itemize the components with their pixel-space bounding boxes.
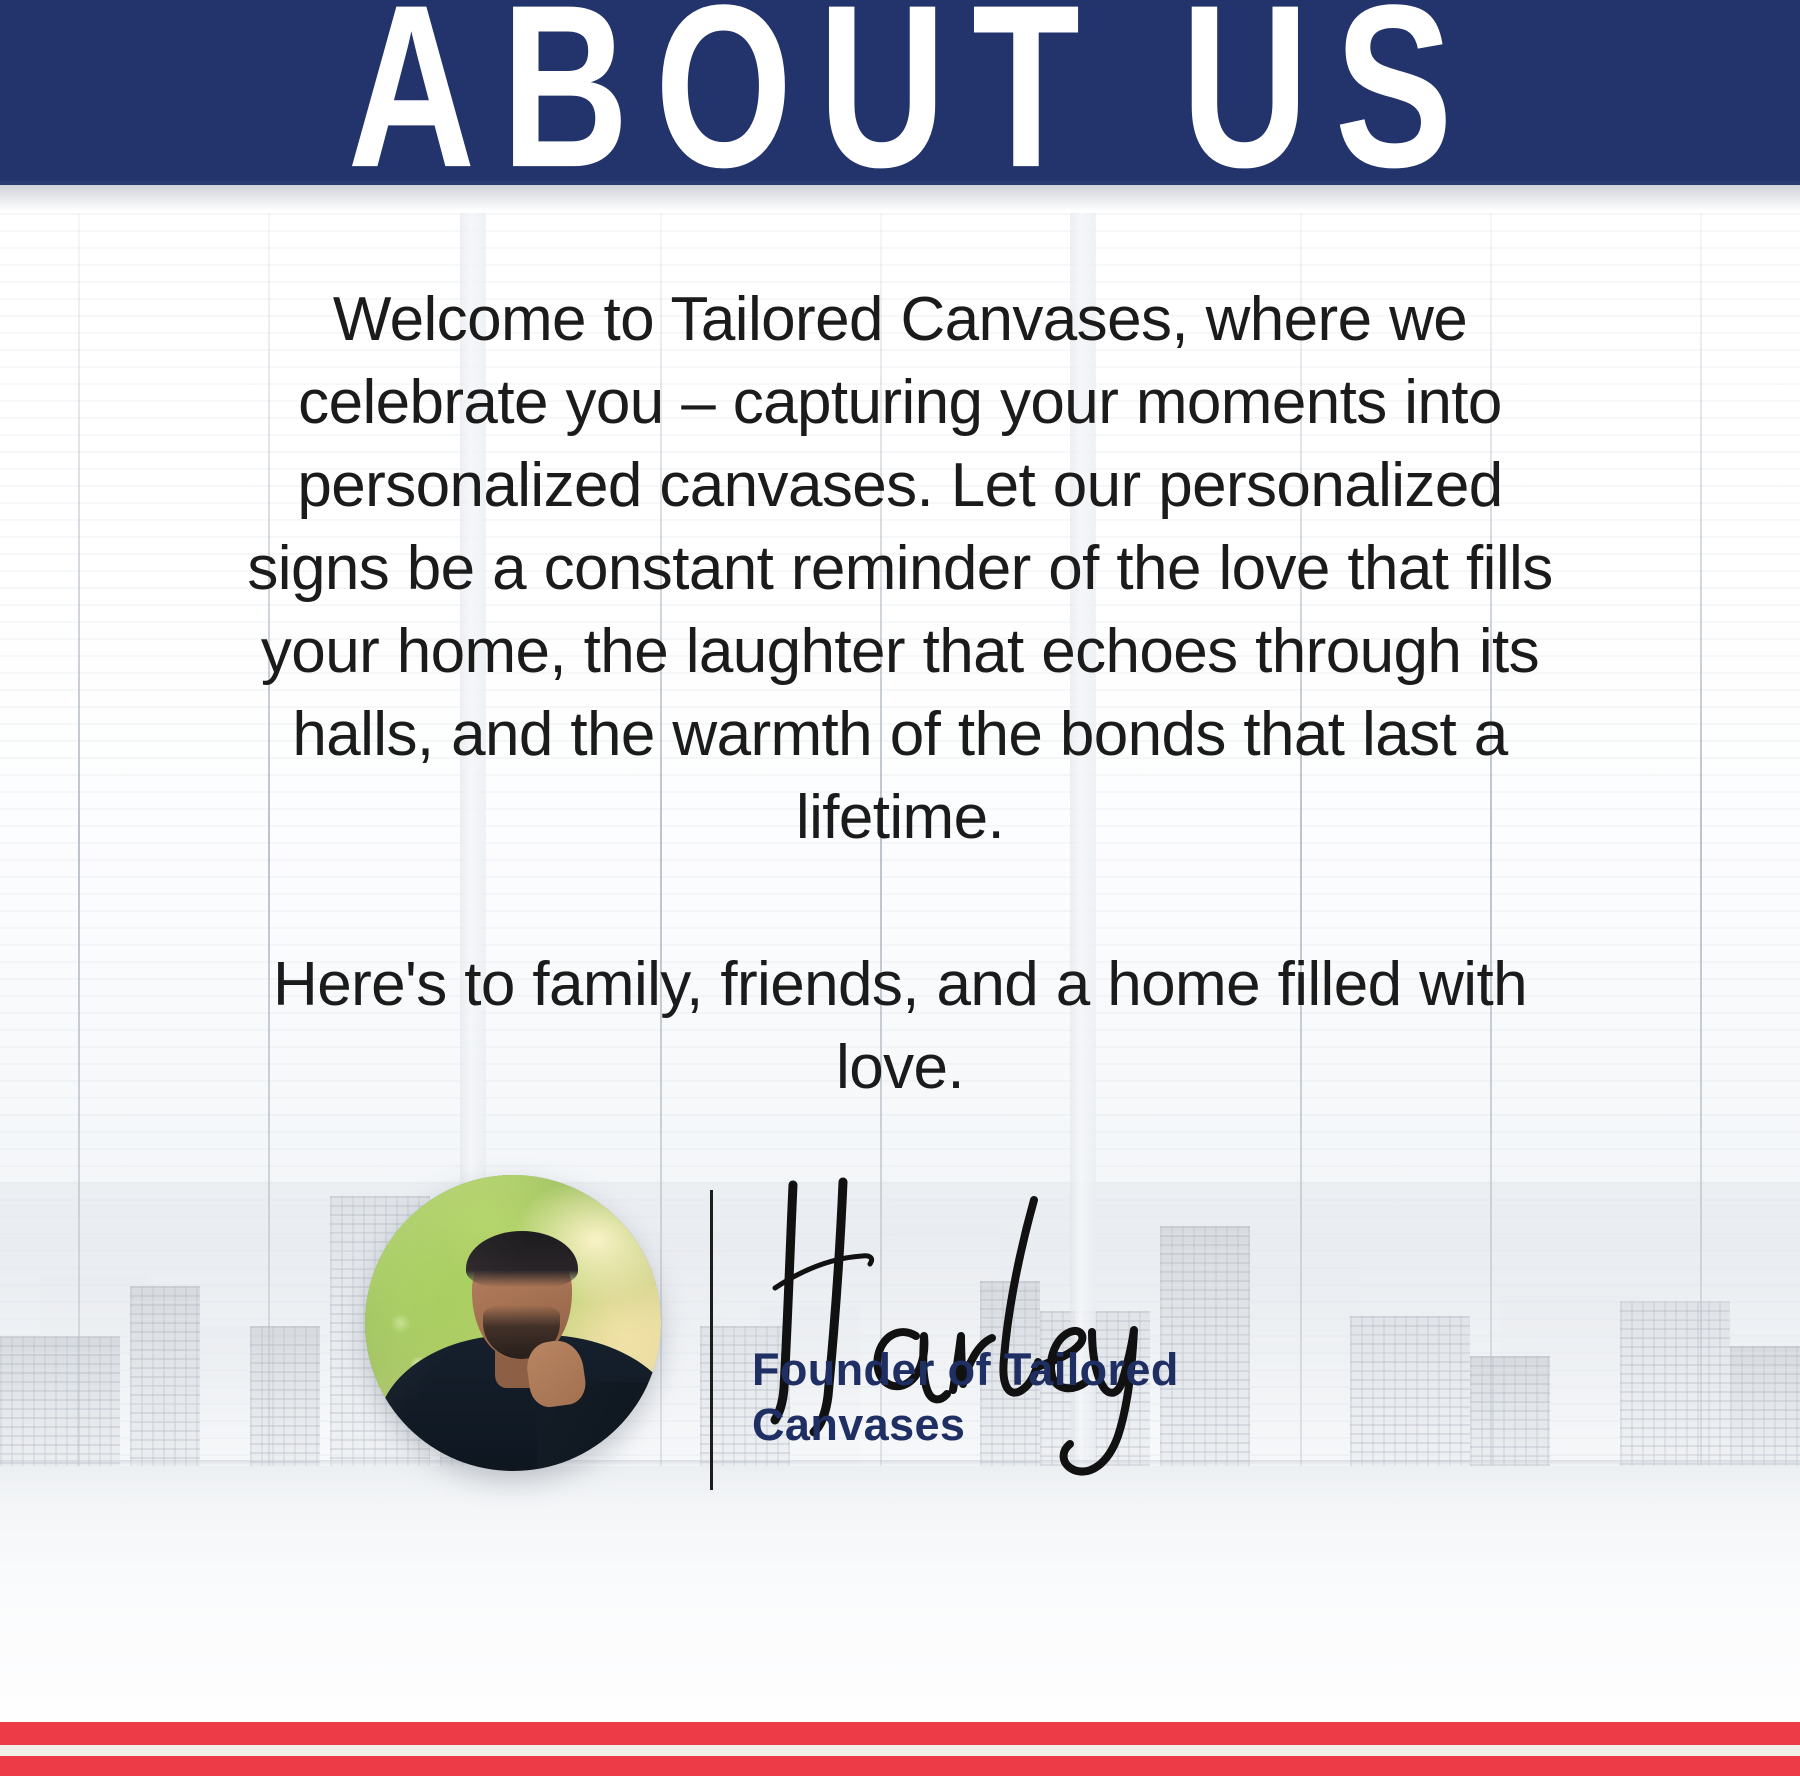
footer-stripe-gap: [0, 1745, 1800, 1756]
avatar: [365, 1175, 661, 1471]
paragraph-2: Here's to family, friends, and a home fi…: [220, 943, 1580, 1109]
header-dropshadow: [0, 185, 1800, 211]
role-line-2: Canvases: [752, 1398, 1272, 1453]
founder-role: Founder of Tailored Canvases: [752, 1343, 1272, 1453]
header-bar: ABOUT US: [0, 0, 1800, 181]
signature-divider: [710, 1190, 713, 1490]
paragraph-1: Welcome to Tailored Canvases, where we c…: [220, 278, 1580, 860]
avatar-photo: [365, 1175, 661, 1471]
footer-stripe-bottom: [0, 1756, 1800, 1776]
about-us-body: Welcome to Tailored Canvases, where we c…: [220, 278, 1580, 1109]
page-title: ABOUT US: [321, 0, 1478, 181]
about-us-poster: ABOUT US Welcome to Tailored Canvases, w…: [0, 0, 1800, 1776]
signature-block: Founder of Tailored Canvases: [0, 1150, 1800, 1510]
role-line-1: Founder of Tailored: [752, 1343, 1272, 1398]
avatar-gloss: [365, 1175, 661, 1471]
footer-stripe-top: [0, 1722, 1800, 1745]
